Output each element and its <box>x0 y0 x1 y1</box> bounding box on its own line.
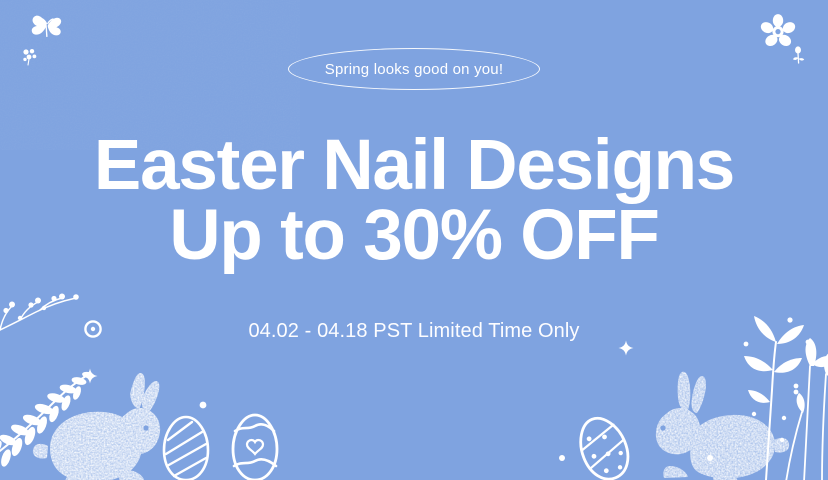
page-title: Easter Nail Designs Up to 30% OFF <box>0 131 828 271</box>
badge-label: Spring looks good on you! <box>325 62 503 77</box>
promo-period-text: 04.02 - 04.18 PST Limited Time Only <box>0 318 828 344</box>
easter-promo-banner: Spring looks good on you! Easter Nail De… <box>0 0 828 480</box>
promo-badge: Spring looks good on you! <box>288 48 540 90</box>
banner-content: Spring looks good on you! Easter Nail De… <box>0 0 828 480</box>
headline-line-1: Easter Nail Designs <box>0 131 828 201</box>
headline-line-2: Up to 30% OFF <box>0 201 828 271</box>
